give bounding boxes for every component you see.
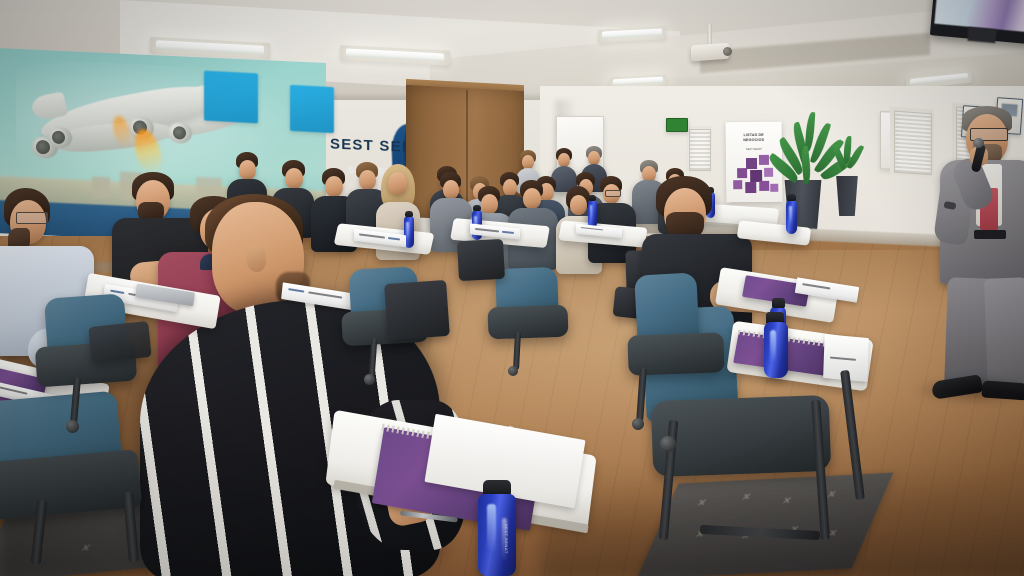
bottle-cap-mid-2 xyxy=(473,205,481,211)
tv-bracket xyxy=(967,27,996,43)
microphone-head-icon xyxy=(973,138,984,148)
chair-seat-mid-2[interactable] xyxy=(487,305,568,340)
chair-caster-right-main xyxy=(660,436,676,452)
poster-square-1 xyxy=(746,158,757,169)
plant-leaf-8 xyxy=(800,146,812,185)
chair-caster-mid-2 xyxy=(508,366,518,376)
chair-caster-left-2 xyxy=(66,420,79,433)
window-blinds-1[interactable] xyxy=(894,111,932,176)
chair-caster-mid-1 xyxy=(364,374,375,385)
mural-building-1 xyxy=(92,176,110,199)
attendee-row3-3-head xyxy=(503,179,517,196)
water-bottle-right-rear xyxy=(786,200,797,234)
attendee-row2-1-head xyxy=(239,160,256,180)
backpack-mid-1 xyxy=(384,280,450,340)
poster-square-8 xyxy=(759,181,769,191)
attendee-row2-9-head xyxy=(570,195,587,215)
wall-panel-blue-1 xyxy=(204,71,258,124)
water-bottle-mid-3 xyxy=(588,200,597,228)
poster-title: LISTAS DE NEGOCIOS xyxy=(733,133,775,144)
chair-caster-right-2 xyxy=(632,418,644,430)
bottle-cap-right-rear xyxy=(787,194,796,201)
chair-seat-right-main[interactable] xyxy=(651,395,832,477)
water-bottle-right-main[interactable] xyxy=(764,322,788,378)
attendee-blonde-head xyxy=(388,172,407,195)
bottle-cap-mid-3 xyxy=(589,195,596,201)
poster-square-7 xyxy=(745,182,756,193)
attendee-back-2-head xyxy=(558,153,570,167)
projector-mount-rod xyxy=(707,24,712,45)
foreground-person-ear xyxy=(246,246,266,272)
exit-sign xyxy=(666,118,688,132)
classroom-photo: SEST SENAT SEST SENAT LISTAS DE NEGOCIOS… xyxy=(0,0,1024,576)
bottle-cap-right-1 xyxy=(772,298,785,308)
airplane-engine-2-intake xyxy=(52,131,65,145)
attendee-row2-4-head xyxy=(359,170,376,190)
attendee-row2-6-head xyxy=(443,180,459,199)
attendee-row2-7-head xyxy=(481,194,498,214)
bag-left-1 xyxy=(88,321,151,363)
poster-subtitle: SEST SENAT xyxy=(735,148,773,151)
attendee-row2-10-glasses xyxy=(605,190,621,197)
attendee-row2-8-head xyxy=(523,188,541,209)
bottle-cap-mid-1 xyxy=(405,211,413,217)
window-blinds-3[interactable] xyxy=(689,129,711,171)
projector-lens-icon xyxy=(723,47,732,56)
wall-panel-blue-2 xyxy=(290,85,334,133)
presenter-belt xyxy=(974,230,1006,239)
airplane-engine-4-intake xyxy=(173,126,186,140)
poster-square-3 xyxy=(737,168,747,178)
poster-square-5 xyxy=(764,168,773,177)
attendee-glasses-eyewear xyxy=(16,212,48,224)
floor-shadow-bottom xyxy=(540,470,1024,576)
poster-square-6 xyxy=(733,180,742,189)
poster-square-2 xyxy=(759,155,769,165)
bottle-label-front: SEST SENAT xyxy=(500,524,509,560)
attendee-back-1-head xyxy=(522,155,534,169)
backpack-mid-2 xyxy=(457,239,505,281)
door-seam xyxy=(466,90,468,218)
presenter-leg-right xyxy=(984,277,1024,390)
water-bottle-front[interactable]: SEST SENAT xyxy=(478,494,516,576)
presenter-floor-shadow xyxy=(912,376,1024,404)
airplane-engine-1-intake xyxy=(36,140,50,155)
attendee-row2-2-head xyxy=(285,168,303,189)
attendee-row2-3-head xyxy=(325,176,343,197)
attendee-back-3-head xyxy=(588,151,600,165)
potted-plant-small xyxy=(828,136,868,180)
